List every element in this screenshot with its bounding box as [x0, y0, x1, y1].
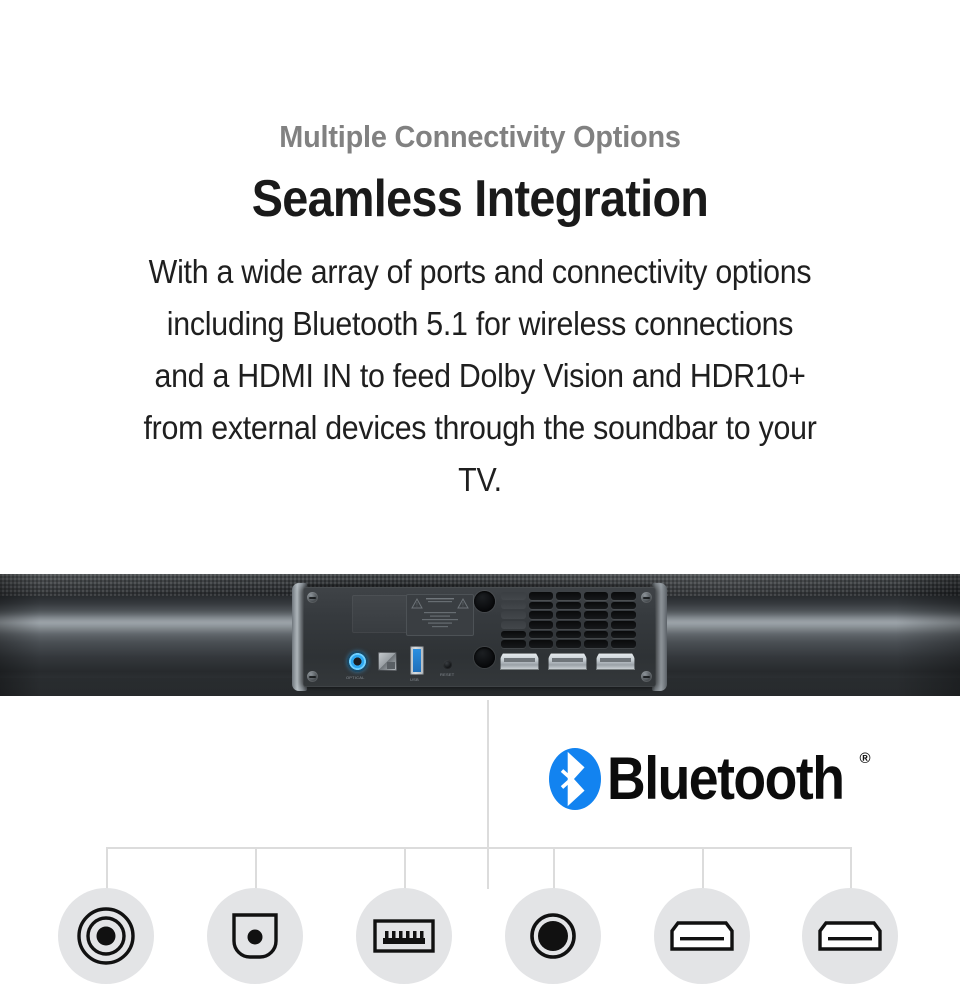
hdmi-out-port-icon	[548, 653, 587, 670]
bluetooth-logo: Bluetooth ®	[549, 746, 871, 812]
hero-description: With a wide array of ports and connectiv…	[140, 246, 821, 506]
screw-top-right-icon	[641, 592, 652, 603]
connector-drop-5	[702, 847, 704, 889]
connectivity-icon-usb[interactable]	[356, 888, 452, 984]
screw-top-left-icon	[307, 592, 318, 603]
connectivity-icon-hdmi-2[interactable]	[802, 888, 898, 984]
connector-line-vertical-main	[487, 700, 489, 848]
connectivity-icon-optical[interactable]	[207, 888, 303, 984]
connectivity-icon-row	[0, 888, 960, 988]
mount-hole-top-icon	[474, 591, 495, 612]
coaxial-digital-audio-icon	[75, 905, 137, 967]
usb-a-port-icon	[410, 646, 424, 675]
ventilation-grille	[501, 592, 636, 648]
connector-drop-2	[255, 847, 257, 889]
hdmi-in-port-icon	[500, 653, 539, 670]
aux-3-5mm-jack-icon	[528, 911, 578, 961]
hdmi-port-group	[500, 653, 636, 675]
connectivity-icon-hdmi-1[interactable]	[654, 888, 750, 984]
soundbar-left-end	[0, 574, 40, 696]
bluetooth-wordmark: Bluetooth	[607, 749, 843, 809]
screw-bottom-right-icon	[641, 671, 652, 682]
connector-drop-4	[553, 847, 555, 889]
mount-hole-bottom-icon	[474, 647, 495, 668]
connectivity-icon-aux[interactable]	[505, 888, 601, 984]
hdmi-port-icon	[818, 919, 882, 953]
usb-port-label: USB	[410, 677, 419, 682]
connectivity-icon-coaxial[interactable]	[58, 888, 154, 984]
infographic-page: Multiple Connectivity Options Seamless I…	[0, 0, 960, 1000]
usb-a-icon	[373, 916, 435, 956]
reset-pinhole-icon	[443, 660, 452, 669]
optical-audio-in-port-icon	[347, 651, 368, 672]
hdmi-port-icon	[670, 919, 734, 953]
optical-port-label: OPTICAL	[346, 675, 365, 680]
hdmi-earc-port-icon	[596, 653, 635, 670]
optical-toslink-icon	[228, 909, 282, 963]
service-square-port-icon	[378, 652, 397, 671]
connector-drop-3	[404, 847, 406, 889]
connector-drop-6	[850, 847, 852, 889]
connector-line-horizontal	[106, 847, 851, 849]
bluetooth-rune-icon	[549, 748, 601, 810]
registered-trademark-symbol: ®	[860, 750, 871, 767]
reset-label: RESET	[440, 672, 454, 677]
screw-bottom-left-icon	[307, 671, 318, 682]
connector-drop-1	[106, 847, 108, 889]
soundbar-product-image	[0, 566, 960, 702]
page-title: Seamless Integration	[48, 168, 912, 230]
soundbar-right-end	[896, 574, 960, 696]
eyebrow-label: Multiple Connectivity Options	[34, 118, 927, 156]
connector-drop-center	[487, 847, 489, 889]
warning-label: ! !	[406, 594, 474, 636]
